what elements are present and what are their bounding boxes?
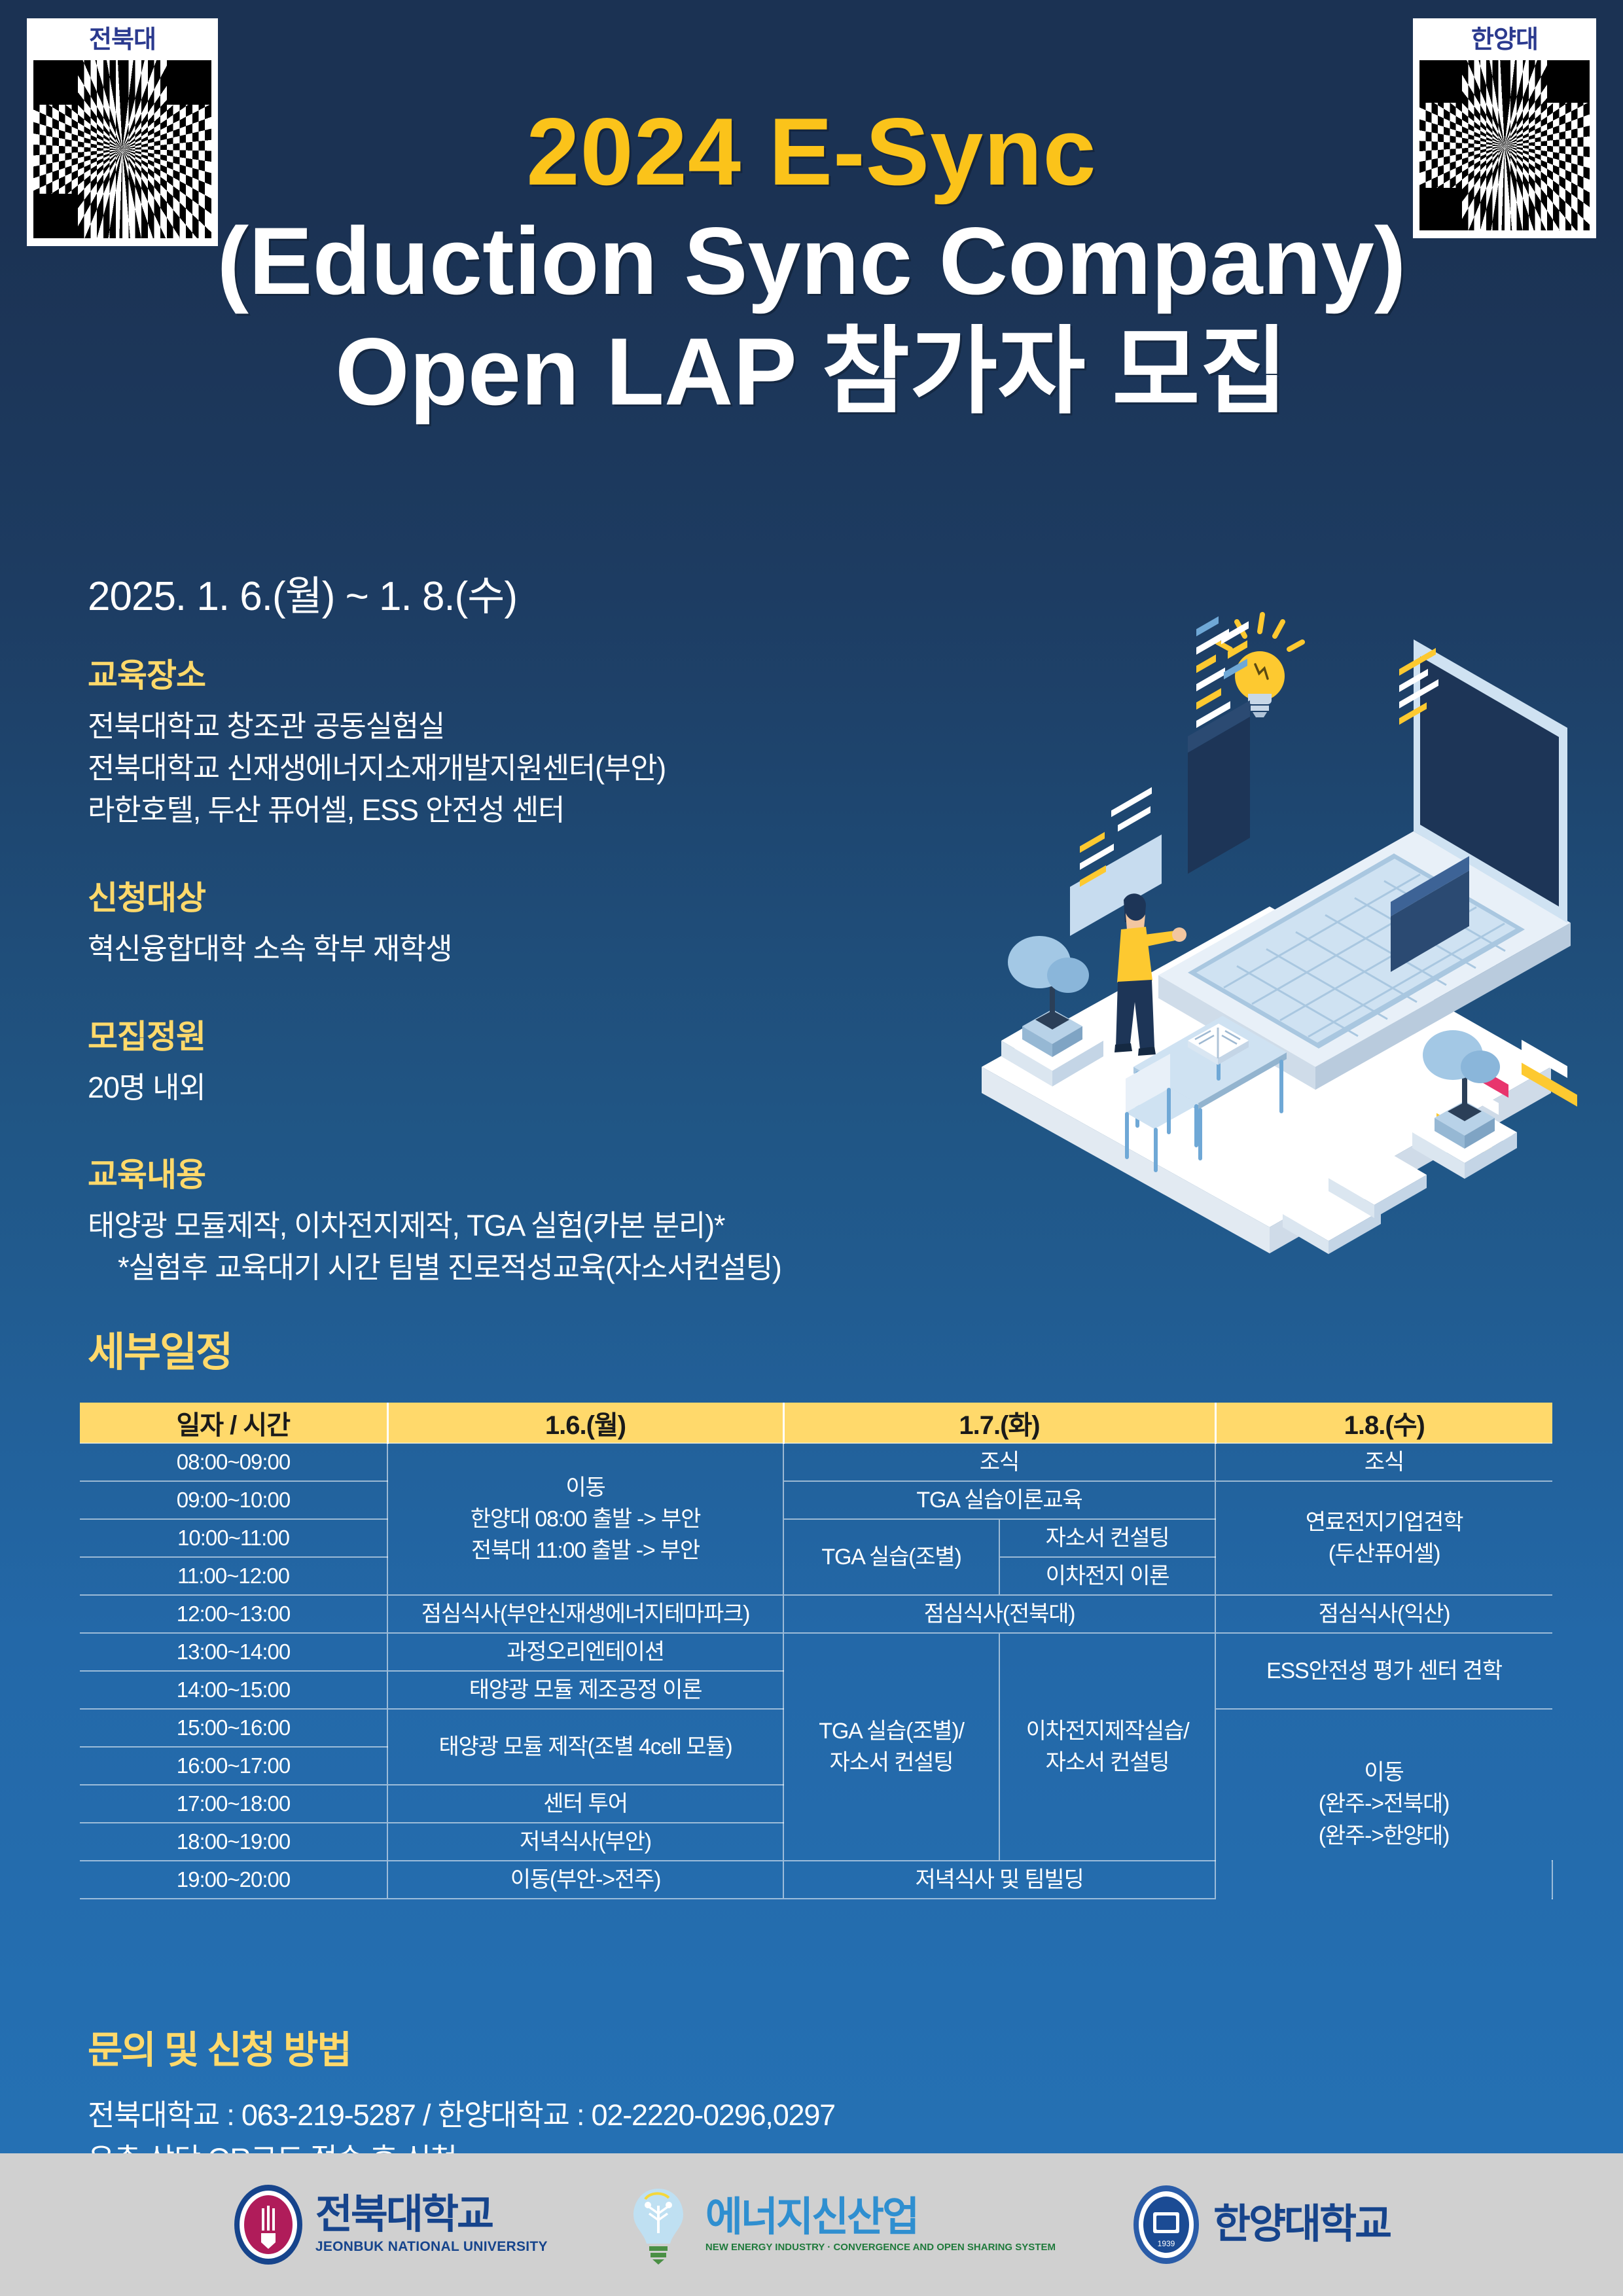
cell-tue-battery-resume: 이차전지제작실습/ 자소서 컨설팅 xyxy=(999,1633,1215,1861)
section-location-heading: 교육장소 xyxy=(88,649,978,696)
location-line-1: 전북대학교 창조관 공동실험실 xyxy=(88,706,978,747)
cell-wed-breakfast: 조식 xyxy=(1215,1443,1552,1481)
cell-text: 자소서 컨설팅 xyxy=(784,1747,999,1778)
cell-mon-orientation: 과정오리엔테이션 xyxy=(387,1633,783,1671)
info-column: 2025. 1. 6.(월) ~ 1. 8.(수) 교육장소 전북대학교 창조관… xyxy=(88,563,978,1303)
location-line-3: 라한호텔, 두산 퓨어셀, ESS 안전성 센터 xyxy=(88,789,978,831)
time-cell: 12:00~13:00 xyxy=(80,1595,387,1633)
svg-text:1939: 1939 xyxy=(1158,2239,1175,2248)
cell-wed-visit: 연료전지기업견학 (두산퓨어셀) xyxy=(1215,1481,1552,1595)
cell-tue-tga-theory: TGA 실습이론교육 xyxy=(783,1481,1215,1519)
cell-tue-lunch: 점심식사(전북대) xyxy=(783,1595,1215,1633)
logo-text-hanyang: 한양대학교 xyxy=(1213,2204,1390,2245)
section-capacity-body: 20명 내외 xyxy=(88,1067,978,1109)
section-capacity: 모집정원 20명 내외 xyxy=(88,1011,978,1109)
event-date-range: 2025. 1. 6.(월) ~ 1. 8.(수) xyxy=(88,563,978,622)
cell-tue-breakfast: 조식 xyxy=(783,1443,1215,1481)
time-cell: 08:00~09:00 xyxy=(80,1443,387,1481)
section-target: 신청대상 혁신융합대학 소속 학부 재학생 xyxy=(88,872,978,970)
hanyang-seal-icon: 1939 xyxy=(1131,2183,1202,2266)
logo-energy-industry: 에너지신산업 NEW ENERGY INDUSTRY · CONVERGENCE… xyxy=(623,2183,1056,2266)
footer-logo-bar: 전북대학교 JEONBUK NATIONAL UNIVERSITY 에너지신산업… xyxy=(0,2153,1623,2296)
cell-text: 이동 xyxy=(388,1472,783,1503)
table-header-row: 일자 / 시간 1.6.(월) 1.7.(화) 1.8.(수) xyxy=(80,1403,1552,1443)
logo-text-energy: 에너지신산업 NEW ENERGY INDUSTRY · CONVERGENCE… xyxy=(705,2197,1056,2253)
logo-text-jeonbuk: 전북대학교 JEONBUK NATIONAL UNIVERSITY xyxy=(315,2195,548,2255)
section-location: 교육장소 전북대학교 창조관 공동실험실 전북대학교 신재생에너지소재개발지원센… xyxy=(88,649,978,831)
section-target-body: 혁신융합대학 소속 학부 재학생 xyxy=(88,928,978,970)
time-cell: 18:00~19:00 xyxy=(80,1823,387,1861)
column-header-day2: 1.7.(화) xyxy=(783,1403,1215,1443)
time-cell: 17:00~18:00 xyxy=(80,1785,387,1823)
cell-mon-move: 이동 한양대 08:00 출발 -> 부안 전북대 11:00 출발 -> 부안 xyxy=(387,1443,783,1595)
cell-text: (완주->전북대) xyxy=(1216,1788,1552,1820)
page-title: 2024 E-Sync (Eduction Sync Company) Open… xyxy=(0,98,1623,427)
cell-wed-lunch: 점심식사(익산) xyxy=(1215,1595,1552,1633)
title-line-3: Open LAP 참가자 모집 xyxy=(0,316,1623,427)
cell-text: 전북대 11:00 출발 -> 부안 xyxy=(388,1535,783,1566)
column-header-time: 일자 / 시간 xyxy=(80,1403,387,1443)
section-target-heading: 신청대상 xyxy=(88,872,978,919)
section-curriculum-body: 태양광 모듈제작, 이차전지제작, TGA 실험(카본 분리)* *실험후 교육… xyxy=(88,1205,978,1289)
cell-mon-tour: 센터 투어 xyxy=(387,1785,783,1823)
code-panel-main xyxy=(1188,609,1250,874)
cell-text: 자소서 컨설팅 xyxy=(1000,1747,1215,1778)
table-row: 08:00~09:00 이동 한양대 08:00 출발 -> 부안 전북대 11… xyxy=(80,1443,1552,1481)
cell-tue-battery-theory: 이차전지 이론 xyxy=(999,1557,1215,1595)
cell-tue-tga-resume: TGA 실습(조별)/ 자소서 컨설팅 xyxy=(783,1633,999,1861)
time-cell: 10:00~11:00 xyxy=(80,1519,387,1557)
code-panel-left xyxy=(1070,787,1162,936)
cell-mon-move2: 이동(부안->전주) xyxy=(387,1861,783,1899)
spacer xyxy=(88,1122,978,1149)
cell-mon-theory: 태양광 모듈 제조공정 이론 xyxy=(387,1671,783,1709)
curriculum-footnote: *실험후 교육대기 시간 팀별 진로적성교육(자소서컨설팅) xyxy=(88,1247,978,1289)
spacer xyxy=(88,846,978,872)
cell-wed-move: 이동 (완주->전북대) (완주->한양대) xyxy=(1215,1709,1552,1899)
time-cell: 15:00~16:00 xyxy=(80,1709,387,1747)
cell-text: (두산퓨어셀) xyxy=(1216,1538,1552,1570)
logo-name-ko: 한양대학교 xyxy=(1213,2204,1390,2245)
column-header-day3: 1.8.(수) xyxy=(1215,1403,1552,1443)
section-curriculum-heading: 교육내용 xyxy=(88,1149,978,1196)
section-capacity-heading: 모집정원 xyxy=(88,1011,978,1058)
cell-tue-resume: 자소서 컨설팅 xyxy=(999,1519,1215,1557)
cell-text: 연료전지기업견학 xyxy=(1216,1507,1552,1538)
section-location-body: 전북대학교 창조관 공동실험실 전북대학교 신재생에너지소재개발지원센터(부안)… xyxy=(88,706,978,831)
cell-text: TGA 실습(조별)/ xyxy=(784,1715,999,1747)
qr-label-jeonbuk: 전북대 xyxy=(89,25,156,60)
logo-name-en: JEONBUK NATIONAL UNIVERSITY xyxy=(315,2239,548,2255)
lightbulb-logo-icon xyxy=(623,2183,694,2266)
qr-label-hanyang: 한양대 xyxy=(1471,25,1538,60)
cell-text: 이동 xyxy=(1216,1757,1552,1788)
table-row: 09:00~10:00 TGA 실습이론교육 연료전지기업견학 (두산퓨어셀) xyxy=(80,1481,1552,1519)
cell-text: 한양대 08:00 출발 -> 부안 xyxy=(388,1503,783,1535)
cell-wed-ess: ESS안전성 평가 센터 견학 xyxy=(1215,1633,1552,1709)
column-header-day1: 1.6.(월) xyxy=(387,1403,783,1443)
logo-name-ko: 에너지신산업 xyxy=(705,2197,1056,2238)
logo-name-en: NEW ENERGY INDUSTRY · CONVERGENCE AND OP… xyxy=(705,2242,1056,2253)
time-cell: 11:00~12:00 xyxy=(80,1557,387,1595)
time-cell: 13:00~14:00 xyxy=(80,1633,387,1671)
table-row: 12:00~13:00 점심식사(부안신재생에너지테마파크) 점심식사(전북대)… xyxy=(80,1595,1552,1633)
location-line-2: 전북대학교 신재생에너지소재개발지원센터(부안) xyxy=(88,747,978,789)
jeonbuk-seal-icon xyxy=(233,2183,304,2266)
cell-text: 이차전지제작실습/ xyxy=(1000,1715,1215,1747)
poster-root: 전북대 한양대 2024 E-Sync (Eduction Sync Compa… xyxy=(0,0,1623,2296)
table-row: 13:00~14:00 과정오리엔테이션 TGA 실습(조별)/ 자소서 컨설팅… xyxy=(80,1633,1552,1671)
schedule-table: 일자 / 시간 1.6.(월) 1.7.(화) 1.8.(수) 08:00~09… xyxy=(80,1403,1552,1899)
cell-mon-dinner: 저녁식사(부안) xyxy=(387,1823,783,1861)
time-cell: 14:00~15:00 xyxy=(80,1671,387,1709)
logo-name-ko: 전북대학교 xyxy=(315,2195,548,2235)
section-curriculum: 교육내용 태양광 모듈제작, 이차전지제작, TGA 실험(카본 분리)* *실… xyxy=(88,1149,978,1289)
curriculum-line-1: 태양광 모듈제작, 이차전지제작, TGA 실험(카본 분리)* xyxy=(88,1205,978,1247)
logo-hanyang: 1939 한양대학교 xyxy=(1131,2183,1390,2266)
logo-jeonbuk: 전북대학교 JEONBUK NATIONAL UNIVERSITY xyxy=(233,2183,548,2266)
cell-tue-tga-lab: TGA 실습(조별) xyxy=(783,1519,999,1595)
schedule-heading: 세부일정 xyxy=(88,1319,232,1378)
title-line-1: 2024 E-Sync xyxy=(0,98,1623,206)
spacer xyxy=(88,984,978,1011)
time-cell: 16:00~17:00 xyxy=(80,1747,387,1785)
time-cell: 09:00~10:00 xyxy=(80,1481,387,1519)
isometric-laptop-workspace-illustration xyxy=(962,609,1584,1257)
cell-text: (완주->한양대) xyxy=(1216,1820,1552,1852)
cell-tue-dinner: 저녁식사 및 팀빌딩 xyxy=(783,1861,1215,1899)
contact-heading: 문의 및 신청 방법 xyxy=(88,2019,1135,2074)
cell-mon-lunch: 점심식사(부안신재생에너지테마파크) xyxy=(387,1595,783,1633)
cell-mon-make: 태양광 모듈 제작(조별 4cell 모듈) xyxy=(387,1709,783,1785)
contact-phone-line: 전북대학교 : 063-219-5287 / 한양대학교 : 02-2220-0… xyxy=(88,2094,1135,2138)
title-line-2: (Eduction Sync Company) xyxy=(0,206,1623,316)
time-cell: 19:00~20:00 xyxy=(80,1861,387,1899)
